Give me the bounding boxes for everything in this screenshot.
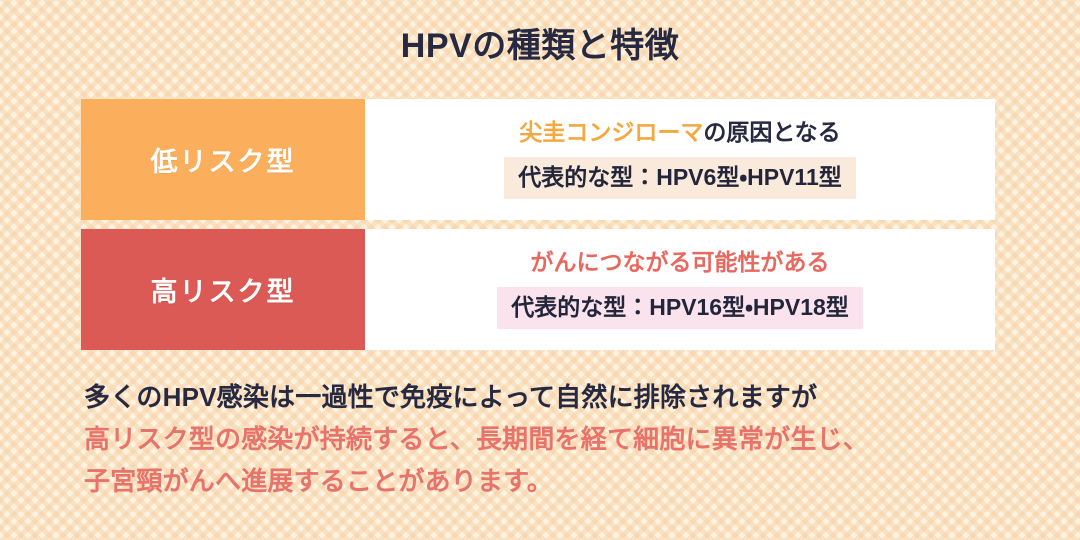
row-content-low-risk: 尖圭コンジローマの原因となる 代表的な型：HPV6型・HPV11型 — [365, 99, 995, 220]
headline-rest-low-risk: の原因となる — [703, 119, 840, 145]
page-title: HPVの種類と特徴 — [0, 26, 1080, 67]
note-paragraph: 多くのHPV感染は一過性で免疫によって自然に排除されますが 高リスク型の感染が持… — [84, 376, 1014, 502]
note-line-2: 高リスク型の感染が持続すると、長期間を経て細胞に異常が生じ、 — [84, 418, 1014, 460]
row-types-low-risk: 代表的な型：HPV6型・HPV11型 — [504, 157, 856, 199]
table-row-low-risk: 低リスク型 尖圭コンジローマの原因となる 代表的な型：HPV6型・HPV11型 — [81, 99, 995, 220]
headline-accent-low-risk: 尖圭コンジローマ — [519, 119, 703, 145]
infographic-page: HPVの種類と特徴 低リスク型 尖圭コンジローマの原因となる 代表的な型：HPV… — [0, 0, 1080, 540]
headline-accent-high-risk: がんにつながる可能性がある — [531, 249, 830, 275]
table-row-high-risk: 高リスク型 がんにつながる可能性がある 代表的な型：HPV16型・HPV18型 — [81, 229, 995, 350]
hpv-risk-table: 低リスク型 尖圭コンジローマの原因となる 代表的な型：HPV6型・HPV11型 … — [81, 99, 995, 359]
note-line-3: 子宮頸がんへ進展することがあります。 — [84, 460, 1014, 502]
row-label-high-risk: 高リスク型 — [81, 229, 365, 350]
row-label-low-risk: 低リスク型 — [81, 99, 365, 220]
row-headline-high-risk: がんにつながる可能性がある — [531, 248, 830, 278]
row-content-high-risk: がんにつながる可能性がある 代表的な型：HPV16型・HPV18型 — [365, 229, 995, 350]
note-line-1: 多くのHPV感染は一過性で免疫によって自然に排除されますが — [84, 376, 1014, 418]
row-types-high-risk: 代表的な型：HPV16型・HPV18型 — [497, 287, 863, 329]
row-headline-low-risk: 尖圭コンジローマの原因となる — [519, 118, 840, 148]
